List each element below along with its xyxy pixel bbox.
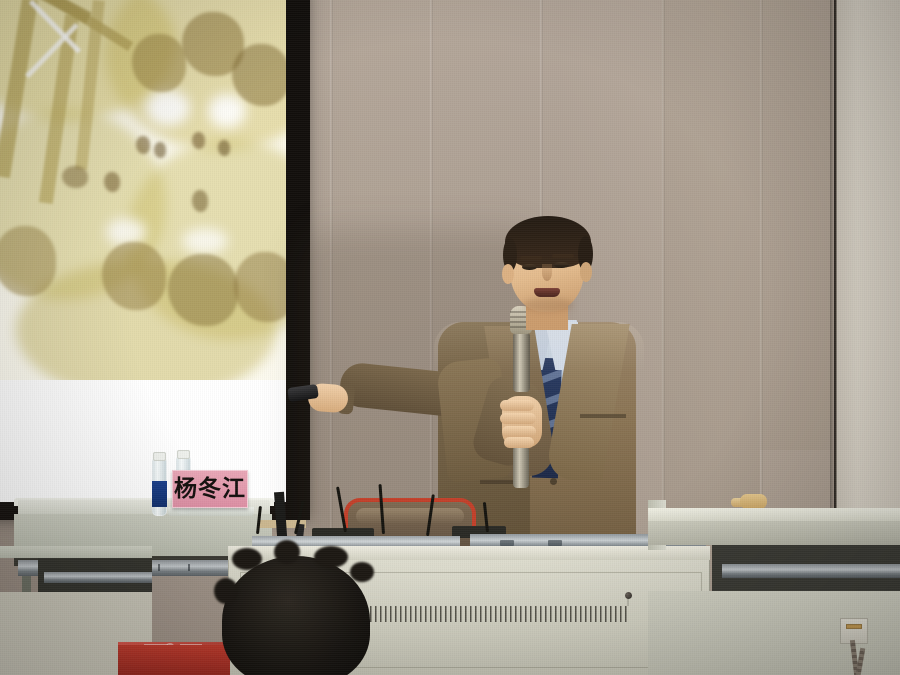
blazer-button <box>550 478 557 485</box>
wall-panel <box>662 0 760 520</box>
water-bottle <box>152 458 167 516</box>
bottle-cap <box>177 450 190 459</box>
microphone-body <box>513 332 530 392</box>
nameplate-stand <box>168 507 254 516</box>
wooden-gavel-head <box>740 494 767 509</box>
nameplate-text: 杨冬江 <box>174 478 246 501</box>
left-cabinet-rail <box>44 572 152 583</box>
bottle-cap <box>153 452 166 461</box>
eye <box>522 264 537 270</box>
right-table-edge <box>648 521 900 545</box>
audience-head <box>222 556 370 675</box>
nameplate-card: 杨冬江 <box>172 470 248 508</box>
ear <box>580 262 592 282</box>
right-table-drawer-rail <box>722 564 900 578</box>
wall-panel <box>760 0 832 450</box>
red-box <box>118 645 230 675</box>
chair-highlight <box>356 508 464 524</box>
podium-knob <box>625 592 632 599</box>
nose <box>542 264 552 281</box>
slide-image <box>0 0 288 380</box>
microphone-lower-body <box>513 446 529 488</box>
ear <box>502 264 514 284</box>
podium-knob-stem <box>627 598 629 606</box>
blazer-pocket <box>580 414 626 418</box>
right-table-top <box>648 508 900 521</box>
mouth <box>534 288 560 297</box>
projection-screen <box>0 0 288 502</box>
outlet-slot <box>846 624 862 629</box>
microphone-hand <box>502 396 542 448</box>
eye <box>554 262 569 268</box>
left-cabinet-top <box>0 546 152 558</box>
eyebrow <box>520 256 542 260</box>
chin-shadow <box>522 298 574 312</box>
eyebrow <box>552 254 574 258</box>
lecture-photo-scene: 杨冬江 <box>0 0 900 675</box>
